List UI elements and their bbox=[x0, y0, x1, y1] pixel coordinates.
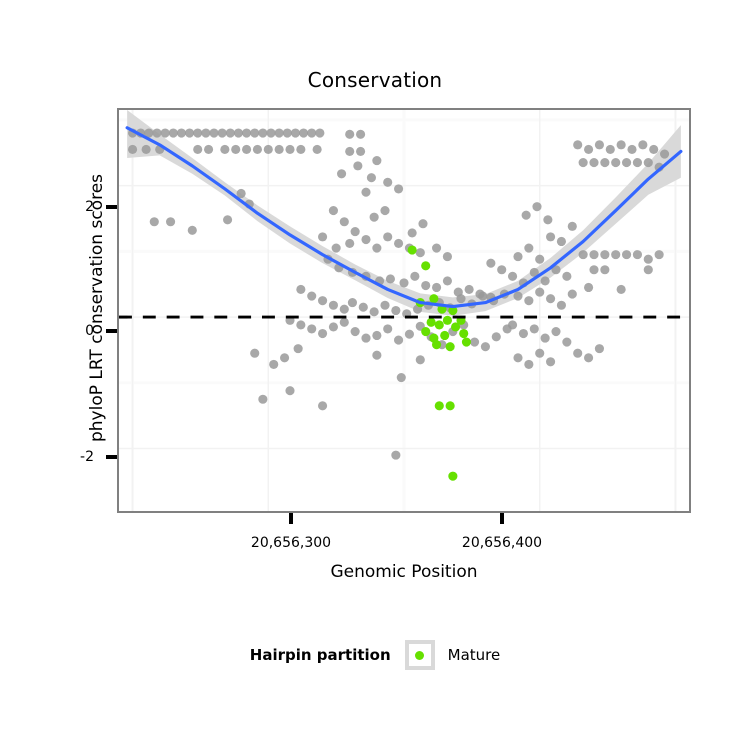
data-point bbox=[142, 145, 151, 154]
data-point bbox=[557, 237, 566, 246]
data-point bbox=[242, 128, 251, 137]
data-point bbox=[266, 128, 275, 137]
data-point bbox=[332, 243, 341, 252]
data-point bbox=[513, 252, 522, 261]
data-point bbox=[584, 283, 593, 292]
data-point bbox=[185, 128, 194, 137]
data-point bbox=[617, 140, 626, 149]
data-point bbox=[524, 243, 533, 252]
data-point bbox=[313, 145, 322, 154]
data-point bbox=[600, 265, 609, 274]
data-point bbox=[421, 281, 430, 290]
data-point bbox=[416, 355, 425, 364]
data-point bbox=[644, 265, 653, 274]
data-point bbox=[394, 184, 403, 193]
data-point bbox=[405, 330, 414, 339]
data-point bbox=[370, 213, 379, 222]
legend-label-mature: Mature bbox=[448, 646, 501, 664]
data-point bbox=[231, 145, 240, 154]
data-point bbox=[546, 357, 555, 366]
data-point bbox=[307, 128, 316, 137]
data-point bbox=[372, 331, 381, 340]
data-point bbox=[622, 250, 631, 259]
data-point bbox=[579, 158, 588, 167]
data-point bbox=[440, 331, 449, 340]
legend-dot-icon bbox=[415, 651, 424, 660]
data-point bbox=[541, 276, 550, 285]
data-point bbox=[459, 329, 468, 338]
data-point bbox=[264, 145, 273, 154]
data-point bbox=[535, 349, 544, 358]
data-point bbox=[386, 274, 395, 283]
data-point bbox=[318, 232, 327, 241]
data-point bbox=[380, 301, 389, 310]
data-point bbox=[432, 243, 441, 252]
y-tick-label-2: 2 bbox=[64, 199, 94, 215]
data-point bbox=[356, 130, 365, 139]
data-point bbox=[543, 215, 552, 224]
data-point bbox=[427, 318, 436, 327]
data-point bbox=[600, 250, 609, 259]
data-point bbox=[351, 327, 360, 336]
data-point bbox=[524, 296, 533, 305]
data-point bbox=[345, 147, 354, 156]
data-point bbox=[551, 327, 560, 336]
chart-title: Conservation bbox=[0, 68, 750, 92]
data-point bbox=[595, 140, 604, 149]
data-point bbox=[535, 255, 544, 264]
data-point bbox=[394, 239, 403, 248]
data-point bbox=[161, 128, 170, 137]
data-point bbox=[318, 329, 327, 338]
data-point bbox=[329, 206, 338, 215]
data-point bbox=[595, 344, 604, 353]
data-point bbox=[448, 472, 457, 481]
data-point bbox=[435, 401, 444, 410]
data-point bbox=[622, 158, 631, 167]
data-point bbox=[380, 206, 389, 215]
data-point bbox=[294, 344, 303, 353]
data-point bbox=[367, 173, 376, 182]
data-point bbox=[193, 145, 202, 154]
data-point bbox=[223, 215, 232, 224]
data-point bbox=[337, 169, 346, 178]
data-point bbox=[315, 128, 324, 137]
data-point bbox=[497, 265, 506, 274]
data-point bbox=[492, 332, 501, 341]
data-point bbox=[432, 283, 441, 292]
data-point bbox=[410, 272, 419, 281]
plot-panel bbox=[117, 108, 691, 513]
data-point bbox=[218, 128, 227, 137]
data-point bbox=[584, 145, 593, 154]
data-point bbox=[638, 140, 647, 149]
data-point bbox=[446, 342, 455, 351]
data-point bbox=[359, 303, 368, 312]
data-point bbox=[299, 128, 308, 137]
data-point bbox=[152, 128, 161, 137]
data-point bbox=[258, 128, 267, 137]
data-point bbox=[296, 145, 305, 154]
data-point bbox=[383, 178, 392, 187]
data-point bbox=[345, 130, 354, 139]
data-point bbox=[383, 324, 392, 333]
data-point bbox=[535, 288, 544, 297]
data-point bbox=[177, 128, 186, 137]
data-point bbox=[237, 189, 246, 198]
data-point bbox=[649, 145, 658, 154]
data-point bbox=[285, 386, 294, 395]
x-tick-mark-1 bbox=[289, 513, 293, 524]
data-point bbox=[644, 255, 653, 264]
data-point bbox=[329, 322, 338, 331]
data-point bbox=[584, 353, 593, 362]
data-point bbox=[522, 211, 531, 220]
data-point bbox=[660, 149, 669, 158]
data-point bbox=[573, 349, 582, 358]
data-point bbox=[562, 338, 571, 347]
data-point bbox=[418, 219, 427, 228]
data-point bbox=[209, 128, 218, 137]
data-point bbox=[606, 145, 615, 154]
data-point bbox=[530, 324, 539, 333]
data-point bbox=[470, 338, 479, 347]
data-point bbox=[372, 243, 381, 252]
y-tick-mark-minus2 bbox=[106, 455, 117, 459]
data-point bbox=[462, 338, 471, 347]
data-point bbox=[573, 140, 582, 149]
data-point bbox=[508, 320, 517, 329]
data-point bbox=[443, 252, 452, 261]
data-point bbox=[562, 272, 571, 281]
data-point bbox=[275, 145, 284, 154]
data-point bbox=[351, 227, 360, 236]
data-point bbox=[188, 226, 197, 235]
data-point bbox=[220, 145, 229, 154]
data-point bbox=[285, 145, 294, 154]
data-point bbox=[253, 145, 262, 154]
data-point bbox=[394, 336, 403, 345]
data-point bbox=[361, 188, 370, 197]
data-point bbox=[627, 145, 636, 154]
data-point bbox=[655, 250, 664, 259]
data-point bbox=[399, 278, 408, 287]
data-point bbox=[432, 340, 441, 349]
data-point bbox=[421, 261, 430, 270]
data-point bbox=[204, 145, 213, 154]
data-point bbox=[397, 373, 406, 382]
data-point bbox=[372, 156, 381, 165]
data-point bbox=[242, 145, 251, 154]
data-point bbox=[568, 222, 577, 231]
data-point bbox=[456, 294, 465, 303]
data-point bbox=[234, 128, 243, 137]
data-point bbox=[275, 128, 284, 137]
data-point bbox=[633, 250, 642, 259]
x-tick-label-1: 20,656,300 bbox=[231, 535, 351, 551]
data-point bbox=[128, 145, 137, 154]
data-point bbox=[600, 158, 609, 167]
data-point bbox=[481, 342, 490, 351]
data-point bbox=[340, 318, 349, 327]
conservation-scatter-chart: Conservation phyloP LRT conservation sco… bbox=[0, 0, 750, 750]
data-point bbox=[226, 128, 235, 137]
data-point bbox=[283, 128, 292, 137]
data-point bbox=[383, 232, 392, 241]
data-point bbox=[532, 202, 541, 211]
legend-key-mature[interactable] bbox=[405, 640, 435, 670]
data-point bbox=[372, 351, 381, 360]
data-point bbox=[348, 298, 357, 307]
data-point bbox=[340, 305, 349, 314]
data-point bbox=[589, 250, 598, 259]
data-point bbox=[408, 228, 417, 237]
data-point bbox=[307, 324, 316, 333]
data-point bbox=[429, 294, 438, 303]
data-point bbox=[465, 285, 474, 294]
data-point bbox=[611, 250, 620, 259]
data-point bbox=[546, 232, 555, 241]
data-point bbox=[361, 235, 370, 244]
data-point bbox=[579, 250, 588, 259]
data-point bbox=[258, 395, 267, 404]
data-point bbox=[589, 265, 598, 274]
legend: Hairpin partition Mature bbox=[0, 640, 750, 670]
data-point bbox=[169, 128, 178, 137]
data-point bbox=[589, 158, 598, 167]
data-point bbox=[329, 301, 338, 310]
legend-title: Hairpin partition bbox=[250, 646, 391, 664]
data-point bbox=[513, 353, 522, 362]
data-point bbox=[408, 245, 417, 254]
data-point bbox=[361, 334, 370, 343]
data-point bbox=[486, 259, 495, 268]
data-point bbox=[568, 290, 577, 299]
data-point bbox=[519, 329, 528, 338]
y-tick-mark-2 bbox=[106, 205, 117, 209]
data-point bbox=[524, 360, 533, 369]
data-point bbox=[557, 301, 566, 310]
y-tick-label-minus2: -2 bbox=[64, 449, 94, 465]
data-point bbox=[296, 285, 305, 294]
data-point bbox=[391, 451, 400, 460]
data-point bbox=[370, 307, 379, 316]
x-tick-mark-2 bbox=[500, 513, 504, 524]
data-point bbox=[166, 217, 175, 226]
data-point bbox=[443, 276, 452, 285]
data-point bbox=[318, 401, 327, 410]
data-point bbox=[541, 334, 550, 343]
y-tick-mark-0 bbox=[106, 329, 117, 333]
data-point bbox=[340, 217, 349, 226]
data-point bbox=[546, 294, 555, 303]
series-mature bbox=[408, 245, 471, 480]
plot-canvas bbox=[119, 110, 689, 511]
data-point bbox=[478, 291, 487, 300]
data-point bbox=[617, 285, 626, 294]
data-point bbox=[391, 306, 400, 315]
data-point bbox=[356, 147, 365, 156]
data-point bbox=[611, 158, 620, 167]
data-point bbox=[513, 291, 522, 300]
data-point bbox=[353, 161, 362, 170]
x-tick-label-2: 20,656,400 bbox=[442, 535, 562, 551]
data-point bbox=[291, 128, 300, 137]
data-point bbox=[269, 360, 278, 369]
data-point bbox=[307, 291, 316, 300]
data-point bbox=[201, 128, 210, 137]
data-point bbox=[446, 401, 455, 410]
data-point bbox=[435, 320, 444, 329]
y-tick-label-0: 0 bbox=[64, 323, 94, 339]
data-point bbox=[318, 296, 327, 305]
data-point bbox=[644, 158, 653, 167]
data-point bbox=[633, 158, 642, 167]
data-point bbox=[250, 128, 259, 137]
data-point bbox=[296, 320, 305, 329]
data-point bbox=[280, 353, 289, 362]
data-point bbox=[193, 128, 202, 137]
data-point bbox=[443, 316, 452, 325]
data-point bbox=[250, 349, 259, 358]
x-axis-title: Genomic Position bbox=[117, 562, 691, 582]
data-point bbox=[508, 272, 517, 281]
data-point bbox=[345, 239, 354, 248]
data-point bbox=[416, 248, 425, 257]
data-point bbox=[421, 327, 430, 336]
data-point bbox=[150, 217, 159, 226]
